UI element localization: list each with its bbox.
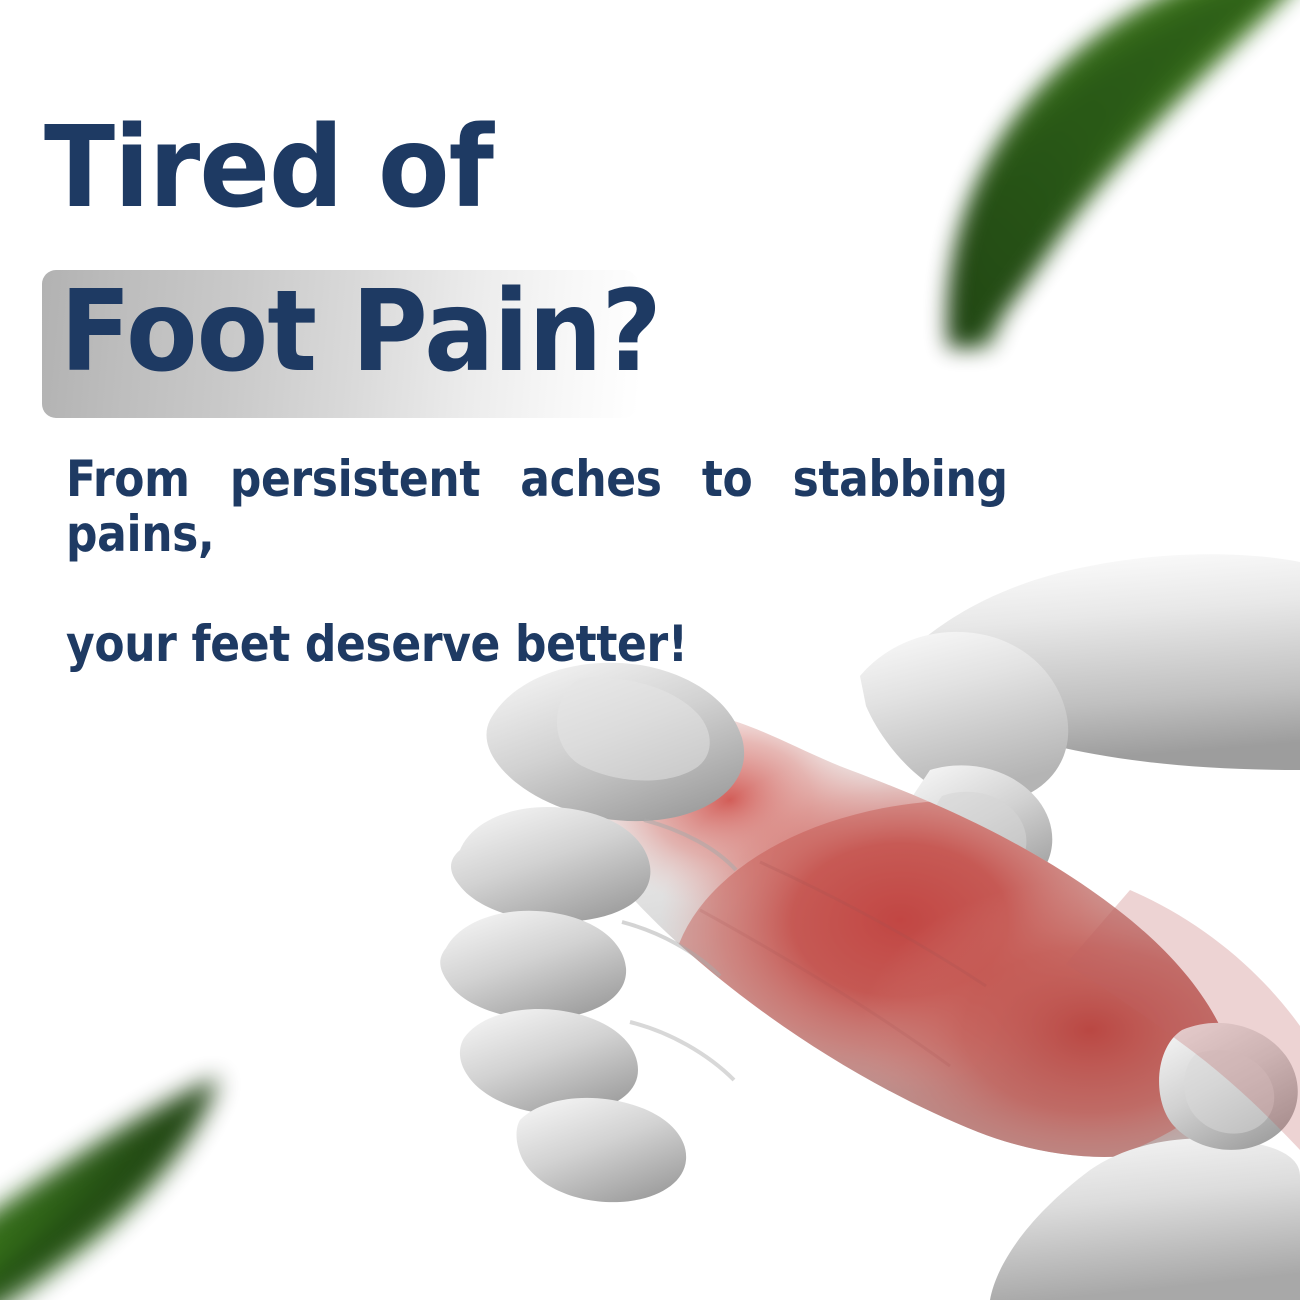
- subtitle-line-2: your feet deserve better!: [66, 617, 1008, 672]
- ad-creative-canvas: Tired of Foot Pain? From persistent ache…: [0, 0, 1300, 1300]
- leaf-bottom-left-icon: [0, 935, 325, 1300]
- subtitle-line-1: From persistent aches to stabbing pains,: [66, 452, 1008, 617]
- subtitle: From persistent aches to stabbing pains,…: [66, 452, 1008, 672]
- headline-line-2: Foot Pain?: [60, 276, 661, 388]
- headline-line-1: Tired of: [44, 112, 493, 224]
- leaf-top-right-icon: [920, 0, 1300, 350]
